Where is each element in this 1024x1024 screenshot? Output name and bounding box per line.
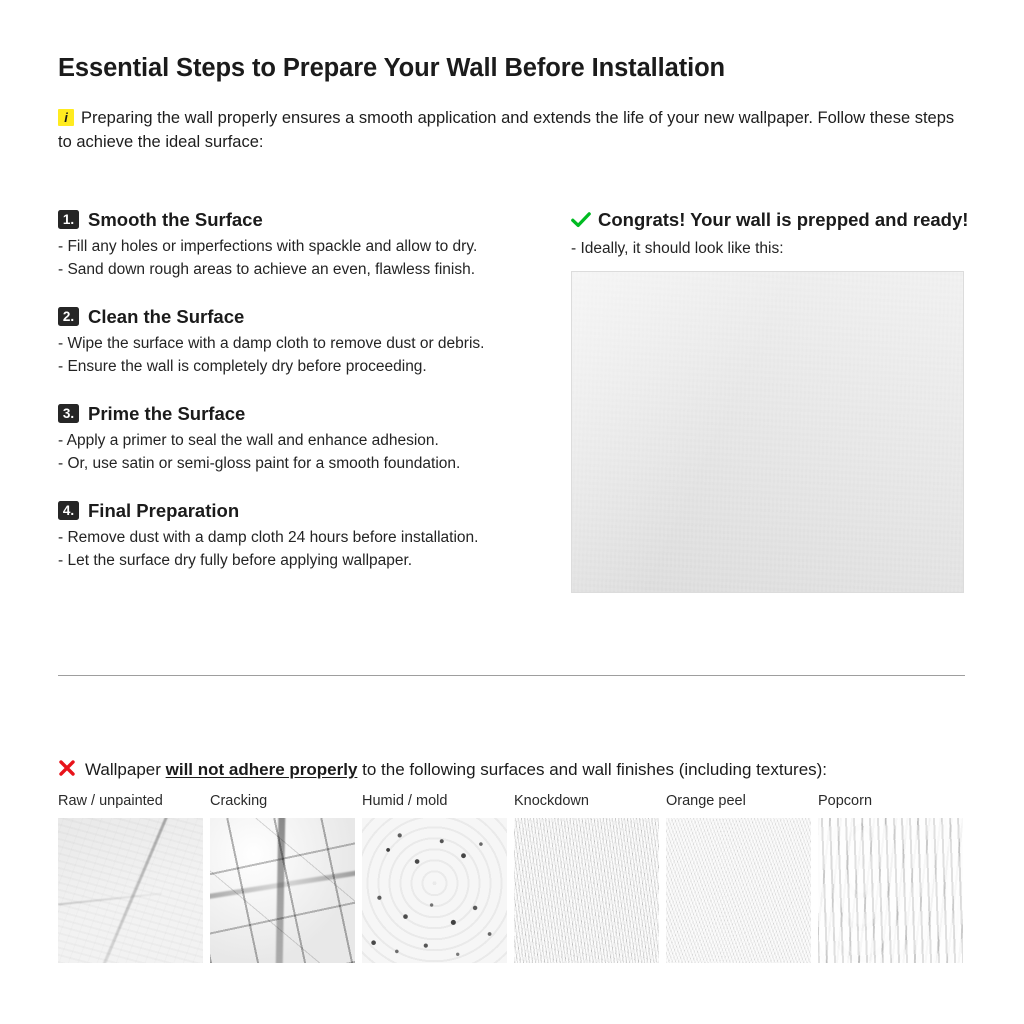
step-detail-line: - Remove dust with a damp cloth 24 hours… bbox=[58, 527, 538, 550]
step-item: 3.Prime the Surface - Apply a primer to … bbox=[58, 402, 538, 475]
page-title: Essential Steps to Prepare Your Wall Bef… bbox=[58, 54, 725, 83]
bad-heading-part2: to the following surfaces and wall finis… bbox=[357, 760, 827, 779]
step-item: 4.Final Preparation - Remove dust with a… bbox=[58, 499, 538, 572]
bad-surfaces-grid: Raw / unpainted Cracking Humid / mold Kn… bbox=[58, 792, 966, 963]
step-heading: 4.Final Preparation bbox=[58, 499, 538, 523]
bad-surface-label: Cracking bbox=[210, 792, 355, 810]
humid-mold-texture bbox=[362, 818, 507, 963]
orange-peel-texture bbox=[666, 818, 811, 963]
step-heading: 1.Smooth the Surface bbox=[58, 208, 538, 232]
step-title: Prime the Surface bbox=[88, 403, 245, 424]
bad-surface-label: Popcorn bbox=[818, 792, 963, 810]
step-detail-list: - Wipe the surface with a damp cloth to … bbox=[58, 333, 538, 378]
step-item: 2.Clean the Surface - Wipe the surface w… bbox=[58, 305, 538, 378]
step-number-badge: 1. bbox=[58, 210, 79, 229]
prepped-wall-image bbox=[571, 271, 964, 593]
info-icon: i bbox=[58, 109, 74, 126]
step-title: Smooth the Surface bbox=[88, 209, 263, 230]
bad-surface-item: Popcorn bbox=[818, 792, 963, 963]
bad-surface-label: Orange peel bbox=[666, 792, 811, 810]
step-number-badge: 2. bbox=[58, 307, 79, 326]
bad-surfaces-heading: Wallpaper will not adhere properly to th… bbox=[58, 758, 827, 784]
step-detail-line: - Ensure the wall is completely dry befo… bbox=[58, 356, 538, 379]
steps-column: 1.Smooth the Surface - Fill any holes or… bbox=[58, 208, 538, 572]
good-example-subtext: - Ideally, it should look like this: bbox=[571, 238, 966, 261]
bad-surface-label: Raw / unpainted bbox=[58, 792, 203, 810]
bad-heading-part1: Wallpaper bbox=[85, 760, 166, 779]
bad-surface-item: Cracking bbox=[210, 792, 355, 963]
step-title: Clean the Surface bbox=[88, 306, 244, 327]
step-number-badge: 4. bbox=[58, 501, 79, 520]
raw-unpainted-texture bbox=[58, 818, 203, 963]
step-item: 1.Smooth the Surface - Fill any holes or… bbox=[58, 208, 538, 281]
step-heading: 3.Prime the Surface bbox=[58, 402, 538, 426]
popcorn-texture bbox=[818, 818, 963, 963]
cracking-texture bbox=[210, 818, 355, 963]
step-detail-line: - Sand down rough areas to achieve an ev… bbox=[58, 259, 538, 282]
intro-paragraph: iPreparing the wall properly ensures a s… bbox=[58, 106, 966, 154]
intro-text: Preparing the wall properly ensures a sm… bbox=[58, 109, 954, 151]
section-divider bbox=[58, 675, 965, 676]
bad-surface-item: Knockdown bbox=[514, 792, 659, 963]
step-number-badge: 3. bbox=[58, 404, 79, 423]
bad-surface-item: Raw / unpainted bbox=[58, 792, 203, 963]
good-example-heading: Congrats! Your wall is prepped and ready… bbox=[571, 208, 966, 234]
good-example-title: Congrats! Your wall is prepped and ready… bbox=[598, 209, 968, 230]
bad-surface-label: Knockdown bbox=[514, 792, 659, 810]
good-example-column: Congrats! Your wall is prepped and ready… bbox=[571, 208, 966, 593]
green-check-icon bbox=[571, 210, 591, 234]
step-heading: 2.Clean the Surface bbox=[58, 305, 538, 329]
knockdown-texture bbox=[514, 818, 659, 963]
red-x-icon bbox=[58, 759, 76, 784]
bad-surface-label: Humid / mold bbox=[362, 792, 507, 810]
step-detail-line: - Apply a primer to seal the wall and en… bbox=[58, 430, 538, 453]
step-title: Final Preparation bbox=[88, 500, 239, 521]
step-detail-line: - Wipe the surface with a damp cloth to … bbox=[58, 333, 538, 356]
step-detail-line: - Or, use satin or semi-gloss paint for … bbox=[58, 453, 538, 476]
step-detail-line: - Fill any holes or imperfections with s… bbox=[58, 236, 538, 259]
bad-surface-item: Orange peel bbox=[666, 792, 811, 963]
bad-heading-emphasis: will not adhere properly bbox=[166, 760, 358, 779]
info-sheet: Essential Steps to Prepare Your Wall Bef… bbox=[58, 0, 966, 1024]
step-detail-list: - Fill any holes or imperfections with s… bbox=[58, 236, 538, 281]
step-detail-list: - Remove dust with a damp cloth 24 hours… bbox=[58, 527, 538, 572]
bad-surface-item: Humid / mold bbox=[362, 792, 507, 963]
step-detail-list: - Apply a primer to seal the wall and en… bbox=[58, 430, 538, 475]
step-detail-line: - Let the surface dry fully before apply… bbox=[58, 550, 538, 573]
